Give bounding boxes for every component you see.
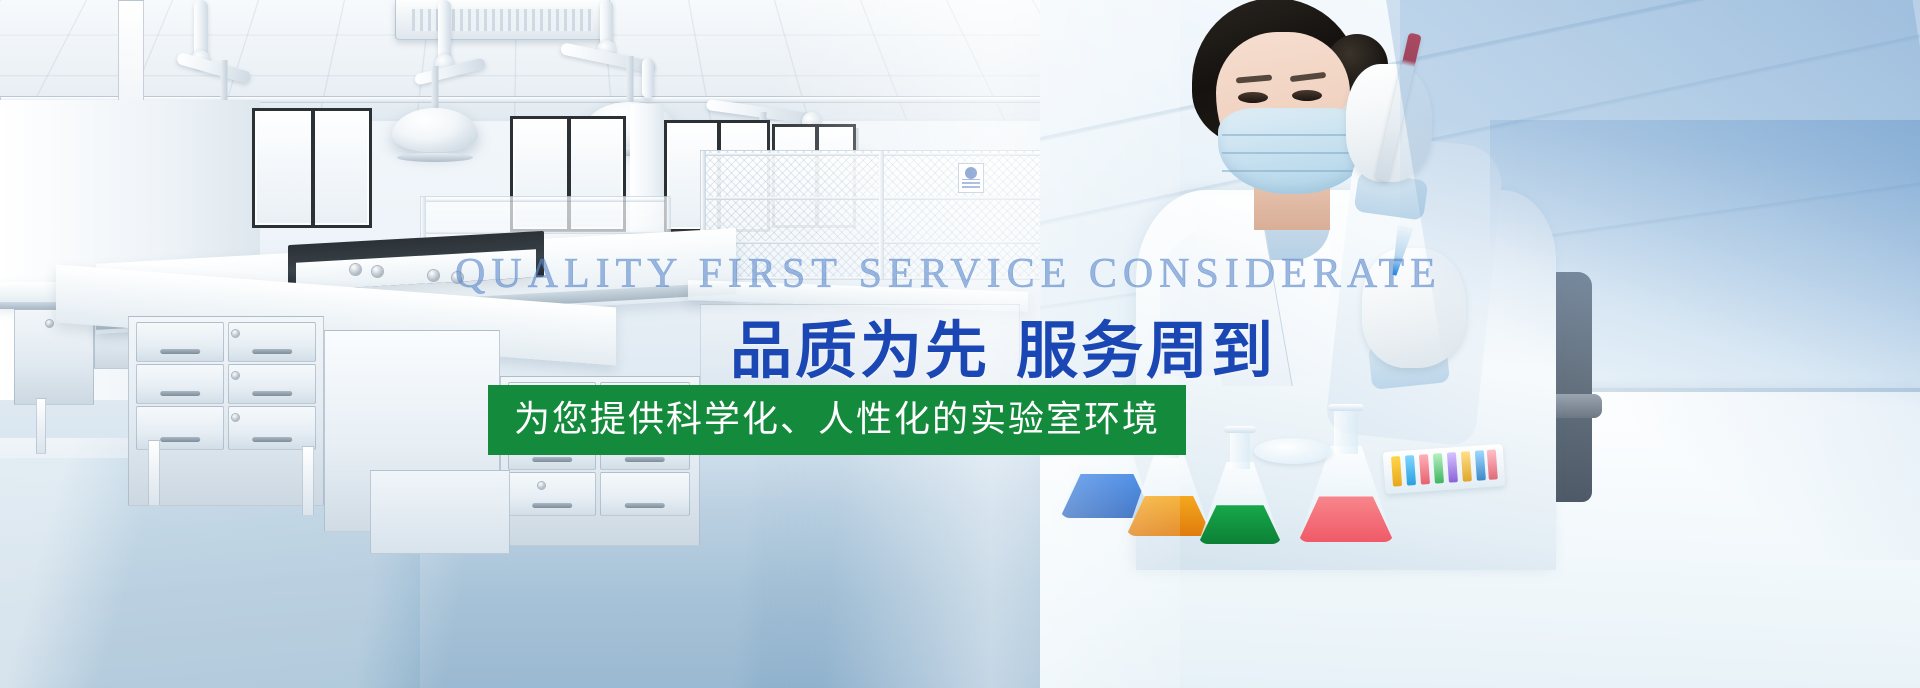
- bench-leg: [148, 440, 160, 506]
- wall-sign: [958, 163, 984, 193]
- window: [252, 108, 372, 228]
- drawer: [136, 322, 224, 362]
- bench-service-outlet: [372, 266, 383, 277]
- drawer-lock: [232, 330, 239, 337]
- side-bench-cabinet: [700, 304, 1020, 424]
- back-shelving-unit: [700, 150, 1060, 280]
- scientist-scene: [1040, 0, 1920, 688]
- drawer-lock: [630, 392, 637, 399]
- bench-service-outlet: [452, 272, 463, 283]
- drawer-lock: [232, 414, 239, 421]
- bench-leg: [302, 446, 314, 516]
- drawer: [136, 364, 224, 404]
- drawer: [228, 364, 316, 404]
- island-base-panel: [370, 470, 510, 554]
- drawer-lock: [232, 372, 239, 379]
- drawer-lock: [538, 482, 545, 489]
- background-photo: [0, 0, 1920, 688]
- bench-leg: [36, 398, 46, 454]
- drawer: [508, 382, 596, 424]
- drawer: [228, 406, 316, 450]
- cabinet-lock: [46, 320, 53, 327]
- bench-service-outlet: [350, 264, 361, 275]
- drawer: [600, 426, 690, 470]
- hero-banner: QUALITY FIRST SERVICE CONSIDERATE 品质为先服务…: [0, 0, 1920, 688]
- petri-dish: [1254, 438, 1332, 464]
- flask-pink: [1298, 408, 1394, 542]
- drawer: [228, 322, 316, 362]
- eye-right: [1292, 90, 1322, 101]
- drawer: [508, 472, 596, 516]
- drawer: [600, 472, 690, 516]
- dome-lamp: [392, 66, 478, 158]
- drawer: [600, 382, 690, 424]
- eye-left: [1238, 92, 1268, 103]
- bench-service-outlet: [428, 270, 439, 281]
- drawer: [508, 426, 596, 470]
- drawer-lock: [538, 392, 545, 399]
